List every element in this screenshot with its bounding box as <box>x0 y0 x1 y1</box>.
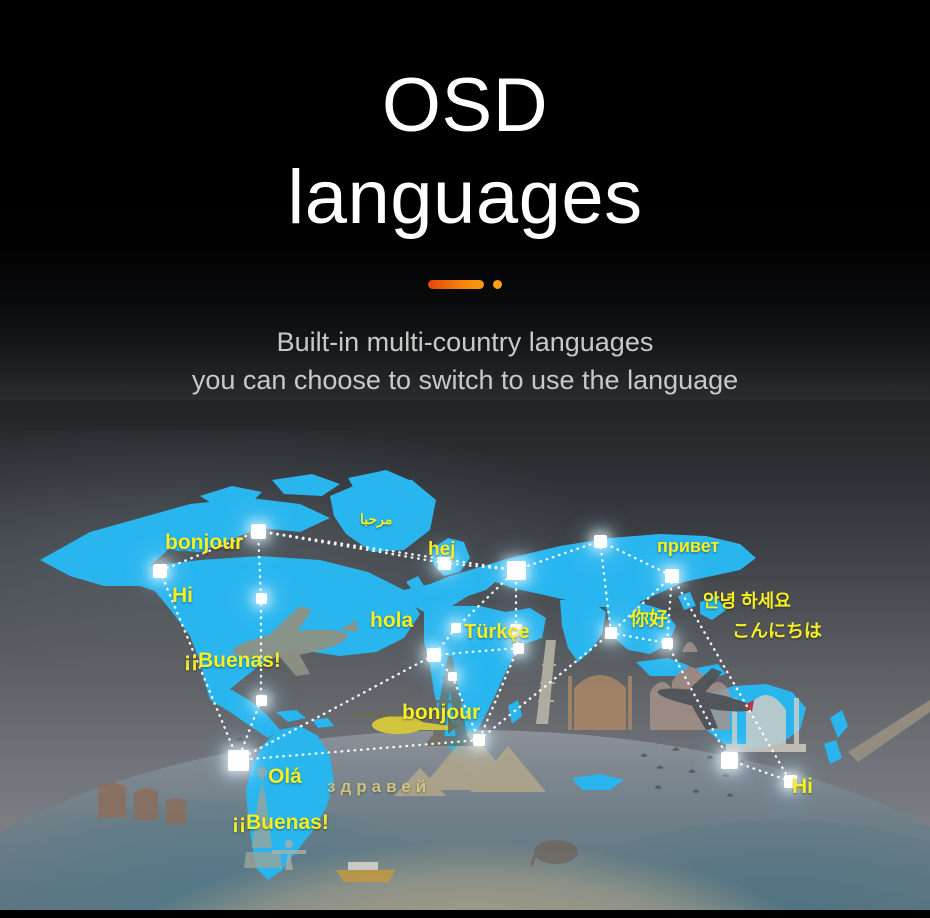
language-label-spanish-spain: hola <box>370 610 413 631</box>
node-russia-west <box>507 561 526 580</box>
node-greenland <box>251 524 266 539</box>
language-label-chinese: 你好 <box>630 610 668 629</box>
node-africa-north <box>427 648 441 662</box>
language-label-swedish: hej <box>428 540 455 559</box>
accent-divider <box>0 278 930 290</box>
divider-dot <box>493 280 502 289</box>
node-africa-south <box>473 734 485 746</box>
network-link <box>258 531 516 570</box>
network-links <box>0 400 930 918</box>
language-label-bulgarian: здравей <box>327 778 431 795</box>
language-label-spanish-mexico: ¡¡Buenas! <box>184 650 281 671</box>
node-mongolia <box>665 569 679 583</box>
osd-languages-banner: bonjourHi¡¡Buenas!مرحباhejholaTürkçebonj… <box>0 0 930 918</box>
node-china-west <box>605 627 617 639</box>
language-label-english-australia: Hi <box>792 776 813 797</box>
network-link <box>258 531 261 598</box>
node-brazil <box>228 750 249 771</box>
network-link <box>479 648 518 740</box>
language-label-portuguese: Olá <box>268 766 302 787</box>
network-link <box>444 563 516 570</box>
network-link <box>516 541 600 570</box>
world-map-scene: bonjourHi¡¡Buenas!مرحباhejholaTürkçebonj… <box>0 400 930 918</box>
bottom-edge-strip <box>0 910 930 918</box>
node-usa-west <box>153 564 167 578</box>
subtitle-line2: you can choose to switch to use the lang… <box>0 360 930 400</box>
language-label-turkish: Türkçe <box>464 622 530 642</box>
divider-bar <box>428 280 484 289</box>
network-link <box>258 531 444 563</box>
network-link <box>434 648 518 655</box>
language-label-spanish-argentina: ¡¡Buenas! <box>232 812 329 833</box>
network-link <box>729 760 790 781</box>
node-africa-mid <box>448 672 457 681</box>
network-link <box>611 633 667 643</box>
network-link <box>600 541 611 633</box>
node-siberia <box>594 535 607 548</box>
language-label-french-africa: bonjour <box>402 702 480 723</box>
node-china-east <box>662 638 673 649</box>
page-title-line2: languages <box>0 160 930 236</box>
node-caribbean <box>256 695 267 706</box>
language-label-french-canada: bonjour <box>165 532 243 553</box>
language-label-japanese: こんにちは <box>732 622 822 640</box>
language-label-english-usa: Hi <box>172 585 193 606</box>
network-link <box>238 740 479 760</box>
subtitle-line1: Built-in multi-country languages <box>0 322 930 362</box>
page-title-line1: OSD <box>0 68 930 144</box>
language-label-korean: 안녕 하세요 <box>703 592 791 610</box>
language-label-russian: привет <box>657 537 719 555</box>
node-europe-west <box>451 623 461 633</box>
language-label-arabic: مرحبا <box>360 512 392 526</box>
node-arabia <box>513 643 524 654</box>
node-australia-w <box>721 752 738 769</box>
node-canada-east <box>256 593 267 604</box>
